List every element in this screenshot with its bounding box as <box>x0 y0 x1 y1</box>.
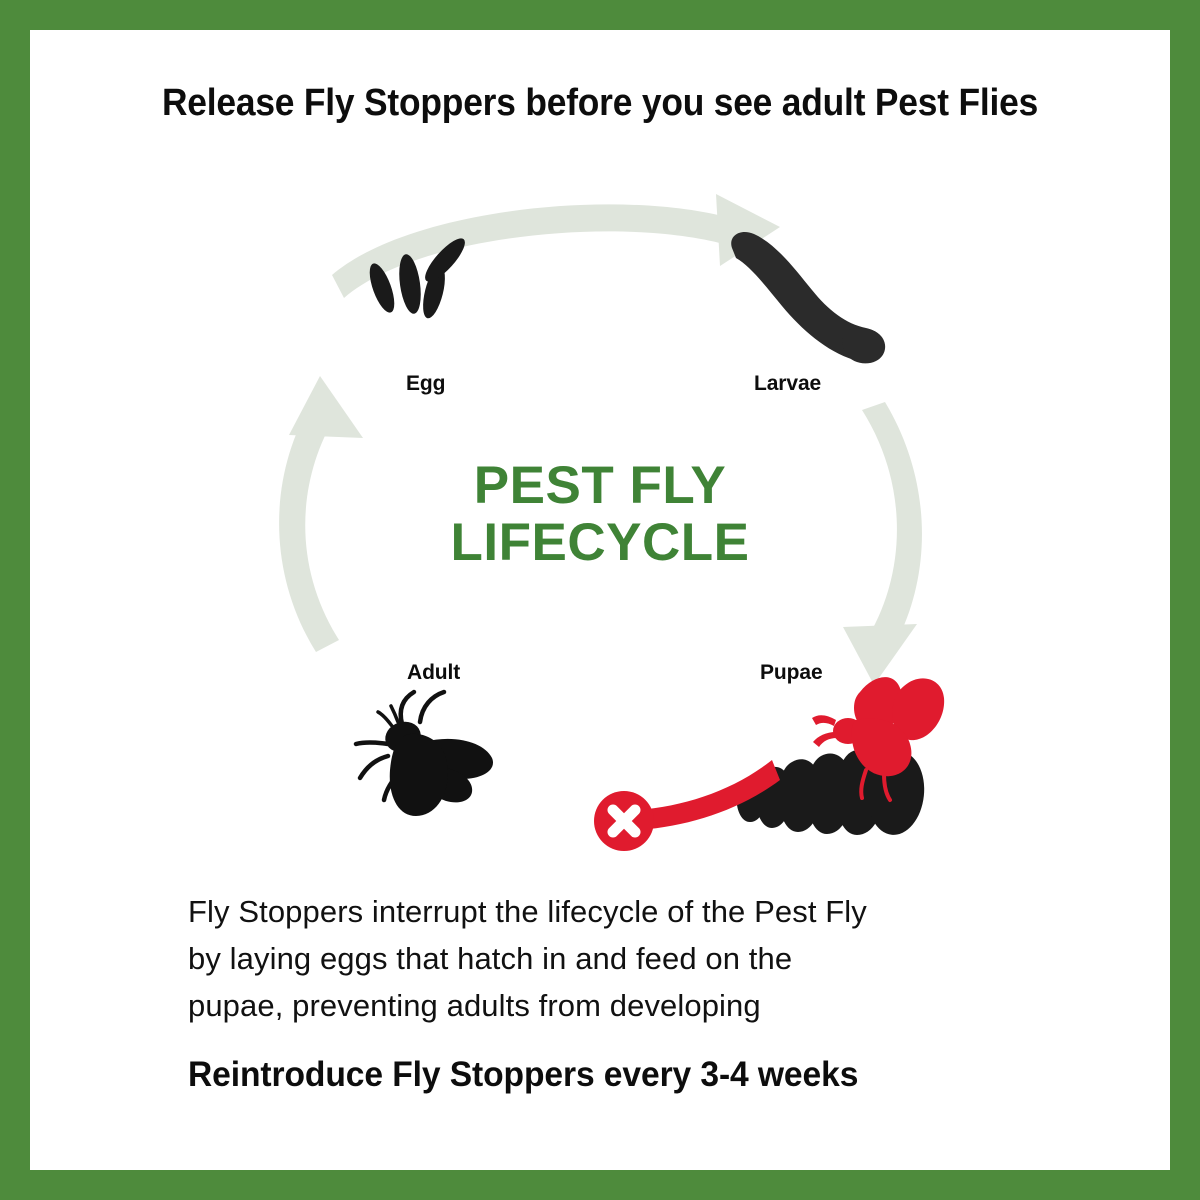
center-title-line-2: LIFECYCLE <box>220 515 980 572</box>
lifecycle-diagram: Egg Larvae Pupae Adult PEST FLY LIFECYCL… <box>220 180 980 880</box>
arrow-egg-to-larvae <box>332 194 780 298</box>
body-line-2: by laying eggs that hatch in and feed on… <box>188 935 1048 982</box>
stage-label-pupae: Pupae <box>760 661 823 685</box>
close-icon <box>613 810 635 832</box>
lifecycle-center-title: PEST FLY LIFECYCLE <box>220 458 980 571</box>
body-line-3: pupae, preventing adults from developing <box>188 982 1048 1029</box>
body-paragraph: Fly Stoppers interrupt the lifecycle of … <box>188 888 1048 1029</box>
poster-frame: Release Fly Stoppers before you see adul… <box>0 0 1200 1200</box>
fly-larva-icon <box>731 232 885 363</box>
stage-label-adult: Adult <box>407 661 460 685</box>
center-title-line-1: PEST FLY <box>220 458 980 515</box>
body-line-1: Fly Stoppers interrupt the lifecycle of … <box>188 888 1048 935</box>
page-title: Release Fly Stoppers before you see adul… <box>70 82 1130 125</box>
stage-label-egg: Egg <box>406 372 445 396</box>
footer-callout: Reintroduce Fly Stoppers every 3-4 weeks <box>188 1055 1033 1095</box>
adult-fly-icon <box>356 692 493 816</box>
stage-label-larvae: Larvae <box>754 372 821 396</box>
poster-inner: Release Fly Stoppers before you see adul… <box>30 30 1170 1170</box>
fly-pupae-with-parasitic-wasp-icon <box>737 677 945 838</box>
